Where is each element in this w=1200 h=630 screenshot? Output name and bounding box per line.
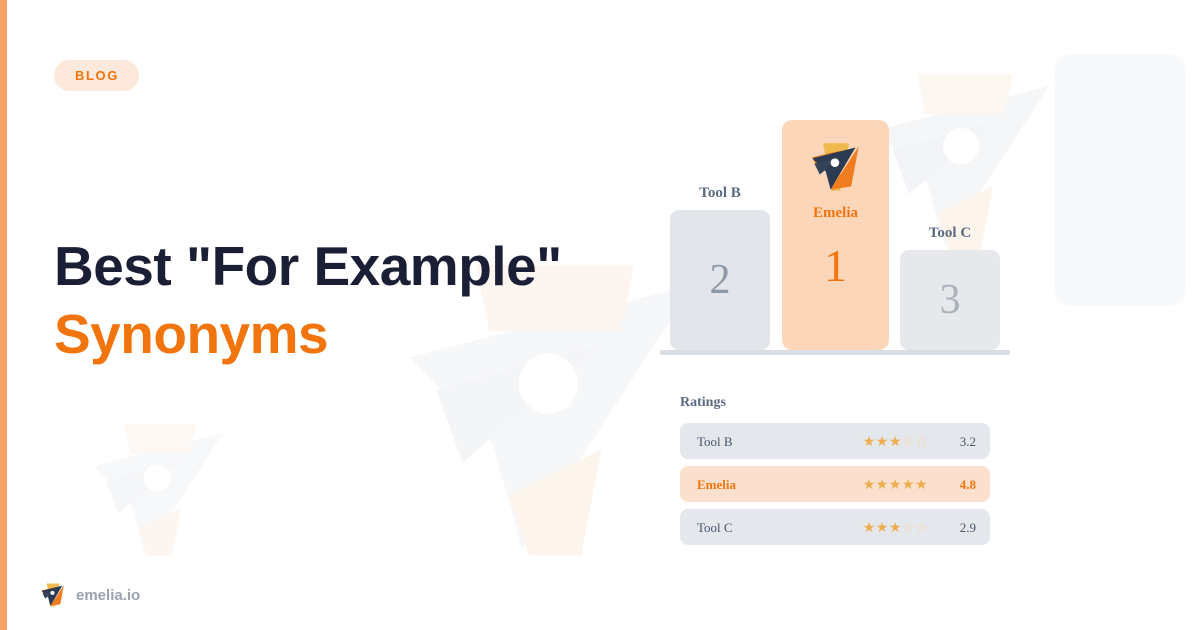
ratings-row-tool-c: Tool C ★★★☆☆ 2.9 bbox=[680, 509, 990, 545]
podium-label-emelia: Emelia bbox=[813, 206, 858, 221]
ratings-row-tool-b: Tool B ★★★☆☆ 3.2 bbox=[680, 423, 990, 459]
footer-brand-text: emelia.io bbox=[76, 588, 140, 603]
headline-line-1: Best "For Example" bbox=[54, 232, 654, 300]
footer-brand: emelia.io bbox=[40, 582, 140, 608]
ratings-title: Ratings bbox=[680, 396, 990, 410]
page-title: Best "For Example" Synonyms bbox=[54, 232, 654, 368]
headline-line-2: Synonyms bbox=[54, 300, 654, 368]
ratings-name-tool-c: Tool C bbox=[697, 521, 733, 534]
ratings-stars-emelia: ★★★★★ bbox=[863, 477, 928, 491]
ratings-stars-tool-c: ★★★☆☆ bbox=[863, 520, 928, 534]
podium-bar-tool-c: 3 bbox=[900, 250, 1000, 350]
podium-bar-tool-b: 2 bbox=[670, 210, 770, 350]
podium-label-tool-b: Tool B bbox=[699, 186, 741, 201]
cover-stage: BLOG Best "For Example" Synonyms Tool B … bbox=[0, 0, 1200, 630]
ratings-score-tool-c: 2.9 bbox=[946, 521, 976, 534]
podium-label-tool-c: Tool C bbox=[929, 226, 971, 241]
ratings-stars-tool-b: ★★★☆☆ bbox=[863, 434, 928, 448]
podium-column-tool-c: Tool C 3 bbox=[900, 226, 1000, 350]
ratings-score-tool-b: 3.2 bbox=[946, 435, 976, 448]
left-accent-stripe bbox=[0, 0, 7, 630]
blog-badge: BLOG bbox=[54, 60, 139, 91]
podium-rank-tool-c: 3 bbox=[940, 279, 961, 321]
emelia-logo-icon bbox=[809, 140, 863, 194]
ratings-row-emelia: Emelia ★★★★★ 4.8 bbox=[680, 466, 990, 502]
ratings-name-tool-b: Tool B bbox=[697, 435, 733, 448]
podium-column-tool-b: Tool B 2 bbox=[670, 186, 770, 350]
podium-baseline bbox=[660, 350, 1010, 355]
ratings-panel: Ratings Tool B ★★★☆☆ 3.2 Emelia ★★★★★ 4.… bbox=[680, 396, 990, 552]
emelia-logo-icon bbox=[40, 582, 66, 608]
podium-column-emelia: Emelia 1 bbox=[782, 120, 889, 350]
podium-bar-emelia: Emelia 1 bbox=[782, 120, 889, 350]
ratings-name-emelia: Emelia bbox=[697, 478, 736, 491]
podium-rank-emelia: 1 bbox=[824, 243, 847, 289]
podium-rank-tool-b: 2 bbox=[710, 259, 731, 301]
podium-chart: Tool B 2 Emelia 1 bbox=[660, 120, 1010, 355]
ratings-score-emelia: 4.8 bbox=[946, 478, 976, 491]
